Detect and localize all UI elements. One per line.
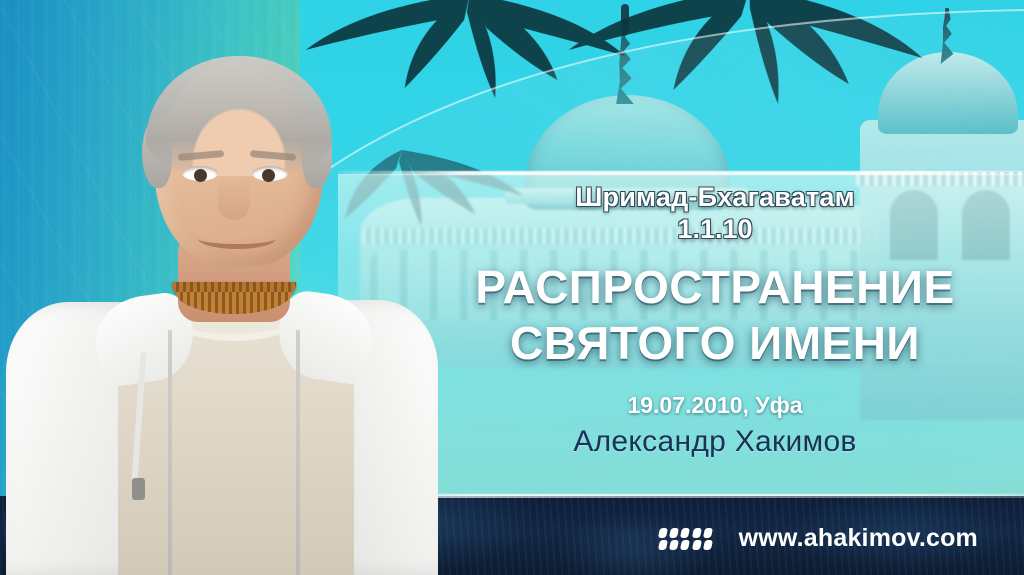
nose	[218, 178, 250, 220]
logo-dot	[658, 528, 668, 538]
logo-dot	[680, 528, 690, 538]
logo-dot	[658, 540, 668, 550]
author-name: Александр Хакимов	[420, 425, 1010, 459]
pupil-left	[194, 169, 207, 182]
scripture-name: Шримад-Бхагаватам	[420, 182, 1010, 212]
logo-dot	[703, 528, 713, 538]
zipper-right	[296, 330, 300, 575]
date-and-city: 19.07.2010, Уфа	[420, 392, 1010, 419]
temple-spire-finial	[621, 4, 629, 26]
ahakimov-dot-grid-logo-icon	[659, 528, 713, 550]
lecture-title-card: Шримад-Бхагаватам 1.1.10 РАСПРОСТРАНЕНИЕ…	[0, 0, 1024, 575]
logo-dot	[692, 540, 702, 550]
logo-dot	[669, 528, 679, 538]
pupil-right	[262, 169, 275, 182]
verse-number: 1.1.10	[420, 212, 1010, 247]
title-text-block: Шримад-Бхагаватам 1.1.10 РАСПРОСТРАНЕНИЕ…	[420, 182, 1010, 459]
logo-dot	[669, 540, 679, 550]
zipper-left	[168, 330, 172, 575]
presenter-portrait	[0, 0, 430, 575]
logo-dot	[692, 528, 702, 538]
panel-top-divider	[338, 171, 1024, 175]
page-title: РАСПРОСТРАНЕНИЕ СВЯТОГО ИМЕНИ	[420, 259, 1010, 371]
hoodie-drawstring-tip	[132, 478, 145, 500]
website-url[interactable]: www.ahakimov.com	[739, 524, 978, 553]
page-title-line-2: СВЯТОГО ИМЕНИ	[420, 315, 1010, 371]
website-credit[interactable]: www.ahakimov.com	[659, 524, 978, 553]
logo-dot	[703, 540, 713, 550]
hair	[146, 56, 332, 176]
page-title-line-1: РАСПРОСТРАНЕНИЕ	[475, 261, 954, 313]
smiling-mouth	[198, 228, 276, 249]
logo-dot	[680, 540, 690, 550]
